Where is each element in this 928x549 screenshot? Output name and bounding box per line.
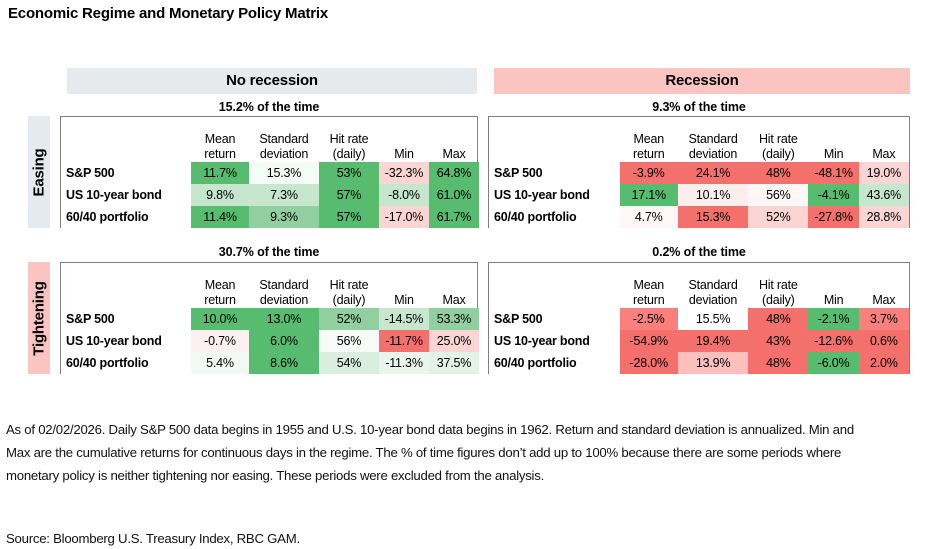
row-label: S&P 500 xyxy=(489,162,620,184)
row-label: 60/40 portfolio xyxy=(61,206,191,228)
data-cell-1: -3.9% xyxy=(620,162,678,184)
time-caption-tightening-recession: 0.2% of the time xyxy=(488,243,910,261)
column-header-5: Max xyxy=(859,263,909,308)
column-header-line2: (daily) xyxy=(748,293,808,307)
column-header-line2: deviation xyxy=(678,293,748,307)
table-row: US 10-year bond-54.9%19.4%43%-12.6%0.6% xyxy=(489,330,909,352)
column-header-line1: Hit rate xyxy=(748,132,808,146)
column-header-line1: Max xyxy=(859,147,909,161)
column-header-line1: Mean xyxy=(191,278,249,292)
row-label: US 10-year bond xyxy=(61,330,191,352)
column-header-line1: Mean xyxy=(620,132,678,146)
column-header-line2: return xyxy=(620,147,678,161)
data-cell-3: 57% xyxy=(319,206,379,228)
data-cell-1: -2.5% xyxy=(620,308,678,330)
data-cell-2: 9.3% xyxy=(249,206,319,228)
data-cell-5: 61.7% xyxy=(429,206,479,228)
matrix-table-tightening-no-recession: MeanreturnStandarddeviationHit rate(dail… xyxy=(60,262,478,374)
column-header-line2: return xyxy=(191,147,249,161)
data-cell-4: -27.8% xyxy=(808,206,858,228)
data-cell-4: -17.0% xyxy=(379,206,429,228)
column-header-1: Meanreturn xyxy=(191,263,249,308)
data-cell-3: 54% xyxy=(319,352,379,374)
row-label: S&P 500 xyxy=(61,162,191,184)
data-cell-2: 13.0% xyxy=(249,308,319,330)
data-cell-1: 17.1% xyxy=(620,184,678,206)
data-cell-2: 15.3% xyxy=(678,206,748,228)
column-header-line1: Min xyxy=(379,293,429,307)
data-cell-5: 61.0% xyxy=(429,184,479,206)
table-row: US 10-year bond-0.7%6.0%56%-11.7%25.0% xyxy=(61,330,479,352)
column-header-line1: Hit rate xyxy=(319,278,379,292)
time-caption-easing-no-recession: 15.2% of the time xyxy=(60,98,478,116)
column-header-line1: Hit rate xyxy=(748,278,808,292)
table-row: 60/40 portfolio5.4%8.6%54%-11.3%37.5% xyxy=(61,352,479,374)
column-header-line1: Min xyxy=(808,147,858,161)
column-header-5: Max xyxy=(429,263,479,308)
table-row: 60/40 portfolio11.4%9.3%57%-17.0%61.7% xyxy=(61,206,479,228)
data-cell-1: 4.7% xyxy=(620,206,678,228)
column-header-line1: Max xyxy=(429,147,479,161)
column-header-line1: Max xyxy=(859,293,909,307)
data-cell-3: 53% xyxy=(319,162,379,184)
data-cell-4: -8.0% xyxy=(379,184,429,206)
column-header-line1: Mean xyxy=(191,132,249,146)
row-label: 60/40 portfolio xyxy=(489,352,620,374)
data-cell-4: -48.1% xyxy=(808,162,858,184)
data-cell-5: 43.6% xyxy=(859,184,909,206)
data-cell-1: -0.7% xyxy=(191,330,249,352)
data-cell-5: 64.8% xyxy=(429,162,479,184)
matrix-table-tightening-recession: MeanreturnStandarddeviationHit rate(dail… xyxy=(488,262,910,374)
column-header-3: Hit rate(daily) xyxy=(319,117,379,162)
matrix-table-easing-no-recession: MeanreturnStandarddeviationHit rate(dail… xyxy=(60,116,478,228)
data-cell-5: 19.0% xyxy=(859,162,909,184)
column-header-line2: (daily) xyxy=(319,293,379,307)
column-header-line2: return xyxy=(620,293,678,307)
column-header-2: Standarddeviation xyxy=(678,263,748,308)
data-cell-3: 48% xyxy=(748,352,808,374)
data-cell-2: 24.1% xyxy=(678,162,748,184)
data-cell-1: 10.0% xyxy=(191,308,249,330)
column-header-line2: deviation xyxy=(249,293,319,307)
table-corner-cell xyxy=(61,117,191,162)
time-caption-tightening-no-recession: 30.7% of the time xyxy=(60,243,478,261)
table-corner-cell xyxy=(61,263,191,308)
data-cell-1: 11.4% xyxy=(191,206,249,228)
row-label: 60/40 portfolio xyxy=(489,206,620,228)
column-header-line2: deviation xyxy=(678,147,748,161)
row-label: 60/40 portfolio xyxy=(61,352,191,374)
data-cell-4: -2.1% xyxy=(808,308,858,330)
column-header-1: Meanreturn xyxy=(620,263,678,308)
table-row: S&P 500-2.5%15.5%48%-2.1%3.7% xyxy=(489,308,909,330)
data-cell-2: 7.3% xyxy=(249,184,319,206)
column-header-4: Min xyxy=(808,263,858,308)
row-label: US 10-year bond xyxy=(489,330,620,352)
table-row: 60/40 portfolio-28.0%13.9%48%-6.0%2.0% xyxy=(489,352,909,374)
column-header-line2: return xyxy=(191,293,249,307)
regime-band-easing-label: Easing xyxy=(31,148,48,196)
data-cell-5: 25.0% xyxy=(429,330,479,352)
regime-band-tightening-label: Tightening xyxy=(31,281,48,355)
data-cell-3: 52% xyxy=(319,308,379,330)
source-text: Source: Bloomberg U.S. Treasury Index, R… xyxy=(6,530,300,548)
row-label: S&P 500 xyxy=(61,308,191,330)
column-header-3: Hit rate(daily) xyxy=(748,117,808,162)
data-cell-3: 57% xyxy=(319,184,379,206)
column-header-line1: Standard xyxy=(249,278,319,292)
page-title: Economic Regime and Monetary Policy Matr… xyxy=(8,5,328,22)
table-row: US 10-year bond9.8%7.3%57%-8.0%61.0% xyxy=(61,184,479,206)
column-header-2: Standarddeviation xyxy=(249,263,319,308)
data-cell-4: -14.5% xyxy=(379,308,429,330)
data-cell-5: 0.6% xyxy=(859,330,909,352)
row-label: S&P 500 xyxy=(489,308,620,330)
column-header-no-recession: No recession xyxy=(67,68,477,94)
column-header-2: Standarddeviation xyxy=(678,117,748,162)
data-cell-4: -12.6% xyxy=(808,330,858,352)
column-header-4: Min xyxy=(379,263,429,308)
regime-band-easing: Easing xyxy=(28,116,50,228)
data-cell-1: 11.7% xyxy=(191,162,249,184)
column-header-2: Standarddeviation xyxy=(249,117,319,162)
data-cell-3: 56% xyxy=(748,184,808,206)
column-header-line1: Standard xyxy=(678,278,748,292)
column-header-3: Hit rate(daily) xyxy=(319,263,379,308)
data-cell-3: 52% xyxy=(748,206,808,228)
table-row: US 10-year bond17.1%10.1%56%-4.1%43.6% xyxy=(489,184,909,206)
data-cell-5: 28.8% xyxy=(859,206,909,228)
data-cell-3: 48% xyxy=(748,308,808,330)
column-header-1: Meanreturn xyxy=(191,117,249,162)
column-header-line1: Standard xyxy=(678,132,748,146)
column-header-line1: Min xyxy=(808,293,858,307)
row-label: US 10-year bond xyxy=(61,184,191,206)
table-row: S&P 500-3.9%24.1%48%-48.1%19.0% xyxy=(489,162,909,184)
regime-band-tightening: Tightening xyxy=(28,262,50,374)
column-header-line1: Standard xyxy=(249,132,319,146)
column-header-3: Hit rate(daily) xyxy=(748,263,808,308)
table-row: S&P 50010.0%13.0%52%-14.5%53.3% xyxy=(61,308,479,330)
data-cell-2: 8.6% xyxy=(249,352,319,374)
data-cell-2: 15.3% xyxy=(249,162,319,184)
footnote-text: As of 02/02/2026. Daily S&P 500 data beg… xyxy=(6,418,872,487)
data-cell-3: 48% xyxy=(748,162,808,184)
column-header-line1: Max xyxy=(429,293,479,307)
table-row: S&P 50011.7%15.3%53%-32.3%64.8% xyxy=(61,162,479,184)
table-corner-cell xyxy=(489,263,620,308)
data-cell-5: 53.3% xyxy=(429,308,479,330)
time-caption-easing-recession: 9.3% of the time xyxy=(488,98,910,116)
data-cell-4: -32.3% xyxy=(379,162,429,184)
column-header-line2: (daily) xyxy=(319,147,379,161)
row-label: US 10-year bond xyxy=(489,184,620,206)
column-header-1: Meanreturn xyxy=(620,117,678,162)
column-header-4: Min xyxy=(379,117,429,162)
data-cell-4: -11.3% xyxy=(379,352,429,374)
column-header-line1: Hit rate xyxy=(319,132,379,146)
data-cell-2: 10.1% xyxy=(678,184,748,206)
matrix-table-easing-recession: MeanreturnStandarddeviationHit rate(dail… xyxy=(488,116,910,228)
table-corner-cell xyxy=(489,117,620,162)
column-header-line2: (daily) xyxy=(748,147,808,161)
data-cell-1: 9.8% xyxy=(191,184,249,206)
data-cell-4: -4.1% xyxy=(808,184,858,206)
column-header-5: Max xyxy=(429,117,479,162)
data-cell-2: 6.0% xyxy=(249,330,319,352)
data-cell-2: 13.9% xyxy=(678,352,748,374)
data-cell-2: 15.5% xyxy=(678,308,748,330)
column-header-line2: deviation xyxy=(249,147,319,161)
column-header-line1: Min xyxy=(379,147,429,161)
column-header-4: Min xyxy=(808,117,858,162)
data-cell-3: 56% xyxy=(319,330,379,352)
data-cell-4: -11.7% xyxy=(379,330,429,352)
column-header-line1: Mean xyxy=(620,278,678,292)
data-cell-2: 19.4% xyxy=(678,330,748,352)
data-cell-5: 37.5% xyxy=(429,352,479,374)
data-cell-1: -28.0% xyxy=(620,352,678,374)
data-cell-5: 3.7% xyxy=(859,308,909,330)
data-cell-1: -54.9% xyxy=(620,330,678,352)
table-row: 60/40 portfolio4.7%15.3%52%-27.8%28.8% xyxy=(489,206,909,228)
data-cell-5: 2.0% xyxy=(859,352,909,374)
data-cell-1: 5.4% xyxy=(191,352,249,374)
data-cell-4: -6.0% xyxy=(808,352,858,374)
column-header-recession: Recession xyxy=(494,68,910,94)
data-cell-3: 43% xyxy=(748,330,808,352)
column-header-5: Max xyxy=(859,117,909,162)
